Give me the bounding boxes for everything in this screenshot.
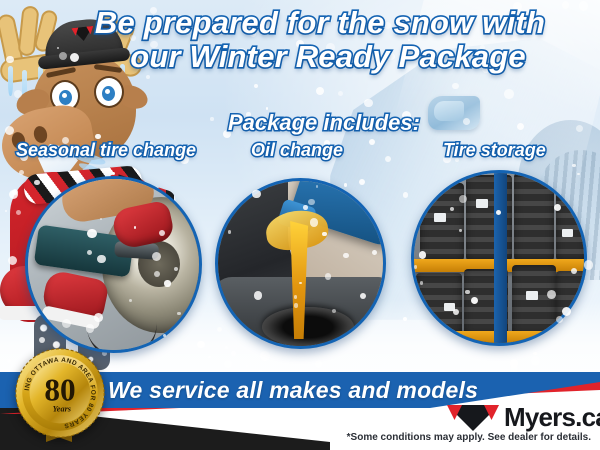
- photo-tire-tag-3: [526, 291, 538, 300]
- photo-rack-post: [494, 173, 507, 343]
- moose-pupil-right: [102, 86, 115, 101]
- tire-change-photo: [25, 176, 202, 353]
- winter-ready-package-ad: Be prepared for the snow with our Winter…: [0, 0, 600, 450]
- oil-change-photo: [215, 178, 386, 349]
- photo-tire-tag-1: [434, 213, 446, 222]
- headline-line-2: our Winter Ready Package: [0, 40, 600, 74]
- badge-number: 80: [44, 372, 75, 407]
- photo-tire-tag-5: [444, 303, 455, 311]
- photo-tire-stack-3: [514, 173, 554, 261]
- badge-unit: Years: [53, 404, 71, 413]
- photo-oil-fill-port: [262, 307, 354, 347]
- moose-eye-right: [94, 76, 124, 108]
- snowflake: [316, 87, 325, 96]
- disclaimer-text: *Some conditions may apply. See dealer f…: [0, 432, 600, 443]
- headline: Be prepared for the snow with our Winter…: [0, 6, 600, 74]
- package-includes-heading: Package includes:: [0, 110, 600, 136]
- banner-text: We service all makes and models: [108, 377, 478, 404]
- service-label-tire-change: Seasonal tire change: [16, 140, 196, 161]
- headline-line-1: Be prepared for the snow with: [0, 6, 600, 40]
- anniversary-badge: MYERS SERVING OTTAWA AND AREA FOR 80 YEA…: [14, 347, 106, 439]
- snowflake: [338, 91, 344, 97]
- moose-pupil-left: [59, 90, 72, 105]
- photo-tire-stack-1: [420, 183, 464, 261]
- myers-logo[interactable]: Myers.ca: [447, 403, 595, 433]
- tire-storage-photo: [411, 170, 587, 346]
- photo-tire-tag-4: [562, 229, 573, 237]
- service-label-oil-change: Oil change: [251, 140, 343, 161]
- myers-logo-text: Myers.ca: [504, 402, 600, 433]
- photo-tire-stack-4: [556, 179, 586, 261]
- myers-chevron-logo-icon: [447, 405, 499, 431]
- snowflake: [254, 84, 258, 88]
- service-label-tire-storage: Tire storage: [443, 140, 546, 161]
- photo-tire-tag-2: [476, 199, 488, 208]
